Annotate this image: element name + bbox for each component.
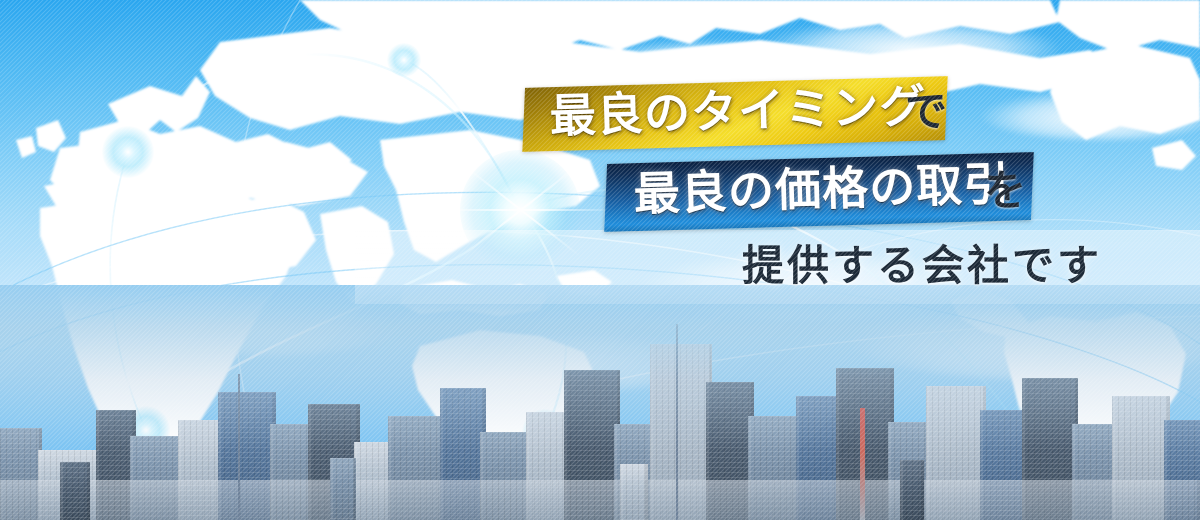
navy-ribbon: 最良の価格の取引 (604, 152, 1034, 232)
gold-ribbon: 最良のタイミング (522, 76, 947, 152)
headline-line-3: 提供する会社です (0, 236, 1200, 300)
headline-line-3-text: 提供する会社です (742, 244, 1102, 290)
headline-block: 最良のタイミング で 最良の価格の取引 を 提供する会社です (0, 0, 1200, 520)
headline-line-2-tail: を (984, 166, 1026, 218)
headline-line-1: 最良のタイミング で (0, 82, 1200, 146)
headline-line-2: 最良の価格の取引 を (0, 158, 1200, 224)
headline-line-1-tail: で (905, 88, 947, 138)
headline-line-2-highlight: 最良の価格の取引 (633, 158, 1011, 222)
hero-banner: 最良のタイミング で 最良の価格の取引 を 提供する会社です (0, 0, 1200, 520)
headline-line-1-highlight: 最良のタイミング (549, 81, 927, 143)
